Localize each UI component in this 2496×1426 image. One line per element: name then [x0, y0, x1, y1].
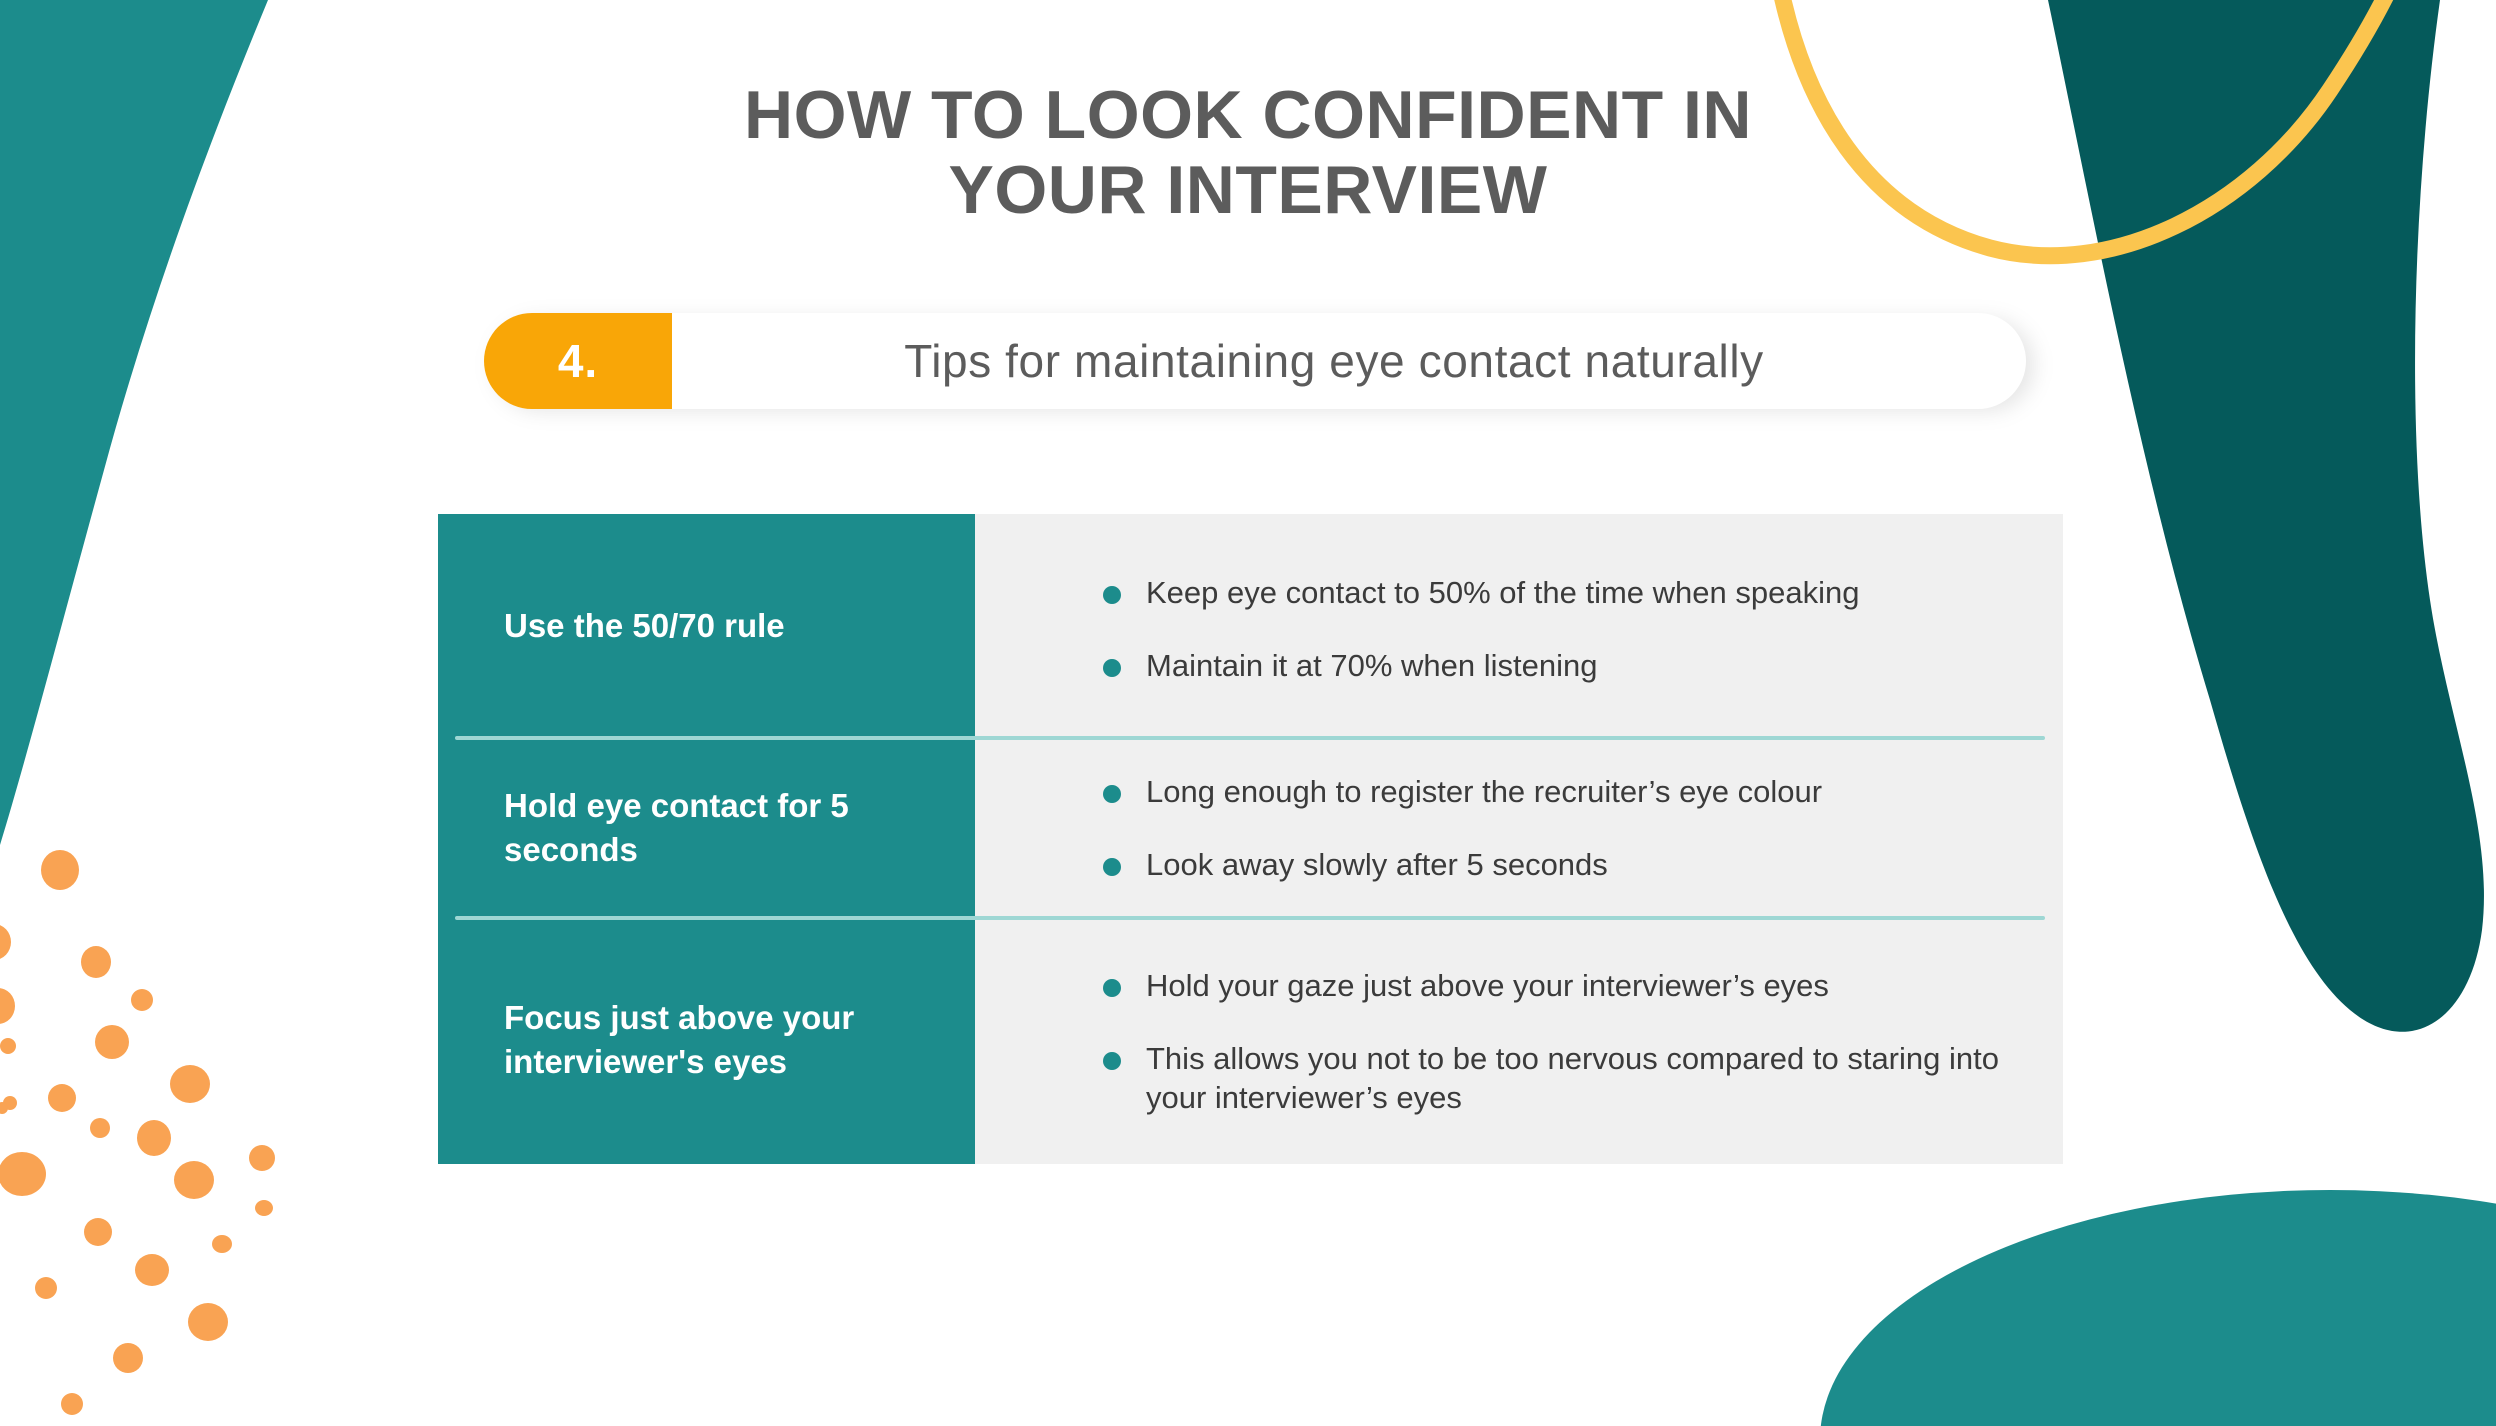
- row-label: Focus just above your interviewer's eyes: [438, 918, 975, 1164]
- pill-body: 4. Tips for maintaining eye contact natu…: [484, 313, 2026, 409]
- bullet-dot-icon: [1103, 586, 1121, 604]
- list-item: This allows you not to be too nervous co…: [975, 1039, 2023, 1117]
- section-heading-pill: 4. Tips for maintaining eye contact natu…: [484, 313, 2026, 409]
- dark-teal-blob-shape: [2048, 0, 2484, 1032]
- tips-table: Use the 50/70 rule Keep eye contact to 5…: [438, 514, 2063, 1164]
- bullet-dot-icon: [1103, 659, 1121, 677]
- bullet-dot-icon: [1103, 858, 1121, 876]
- orange-dots-group: [0, 850, 275, 1415]
- title-line-2: YOUR INTERVIEW: [620, 153, 1876, 228]
- bullet-text: Hold your gaze just above your interview…: [1146, 966, 1829, 1005]
- row-content: Long enough to register the recruiter’s …: [975, 738, 2063, 918]
- row-content: Keep eye contact to 50% of the time when…: [975, 514, 2063, 738]
- teal-ellipse-bottom-right: [1820, 1190, 2496, 1426]
- slide-canvas: HOW TO LOOK CONFIDENT IN YOUR INTERVIEW …: [0, 0, 2496, 1426]
- list-item: Long enough to register the recruiter’s …: [975, 772, 2023, 811]
- list-item: Maintain it at 70% when listening: [975, 646, 2023, 685]
- bullet-dot-icon: [1103, 979, 1121, 997]
- section-heading-text: Tips for maintaining eye contact natural…: [672, 313, 2026, 409]
- bullet-text: Look away slowly after 5 seconds: [1146, 845, 1608, 884]
- title-line-1: HOW TO LOOK CONFIDENT IN: [620, 78, 1876, 153]
- row-label: Hold eye contact for 5 seconds: [438, 738, 975, 918]
- list-item: Look away slowly after 5 seconds: [975, 845, 2023, 884]
- bullet-text: Maintain it at 70% when listening: [1146, 646, 1597, 685]
- row-divider: [455, 736, 2045, 740]
- row-label: Use the 50/70 rule: [438, 514, 975, 738]
- row-divider: [455, 916, 2045, 920]
- list-item: Hold your gaze just above your interview…: [975, 966, 2023, 1005]
- row-content: Hold your gaze just above your interview…: [975, 918, 2063, 1164]
- bullet-text: This allows you not to be too nervous co…: [1146, 1039, 2023, 1117]
- table-row: Hold eye contact for 5 seconds Long enou…: [438, 738, 2063, 918]
- page-title: HOW TO LOOK CONFIDENT IN YOUR INTERVIEW: [620, 78, 1876, 228]
- bullet-dot-icon: [1103, 1052, 1121, 1070]
- section-number-badge: 4.: [484, 313, 672, 409]
- list-item: Keep eye contact to 50% of the time when…: [975, 573, 2023, 612]
- table-row: Focus just above your interviewer's eyes…: [438, 918, 2063, 1164]
- bullet-dot-icon: [1103, 785, 1121, 803]
- bullet-text: Keep eye contact to 50% of the time when…: [1146, 573, 1859, 612]
- bullet-text: Long enough to register the recruiter’s …: [1146, 772, 1822, 811]
- teal-swoosh-left-shape: [0, 0, 268, 845]
- table-row: Use the 50/70 rule Keep eye contact to 5…: [438, 514, 2063, 738]
